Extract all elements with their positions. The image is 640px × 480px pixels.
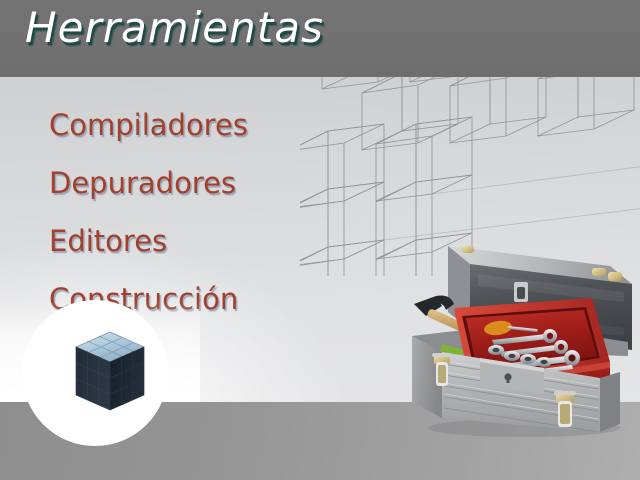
- list-item: Editores: [49, 212, 349, 270]
- page-title: Herramientas: [25, 4, 324, 52]
- open-metal-toolbox-graphic: [396, 232, 640, 440]
- list-item: Depuradores: [49, 154, 349, 212]
- blue-voxel-cube-graphic: [58, 330, 162, 422]
- list-item: Compiladores: [49, 96, 349, 154]
- slide-canvas: Herramientas Compiladores Depuradores Ed…: [0, 0, 640, 480]
- bullet-list: Compiladores Depuradores Editores Constr…: [49, 96, 349, 328]
